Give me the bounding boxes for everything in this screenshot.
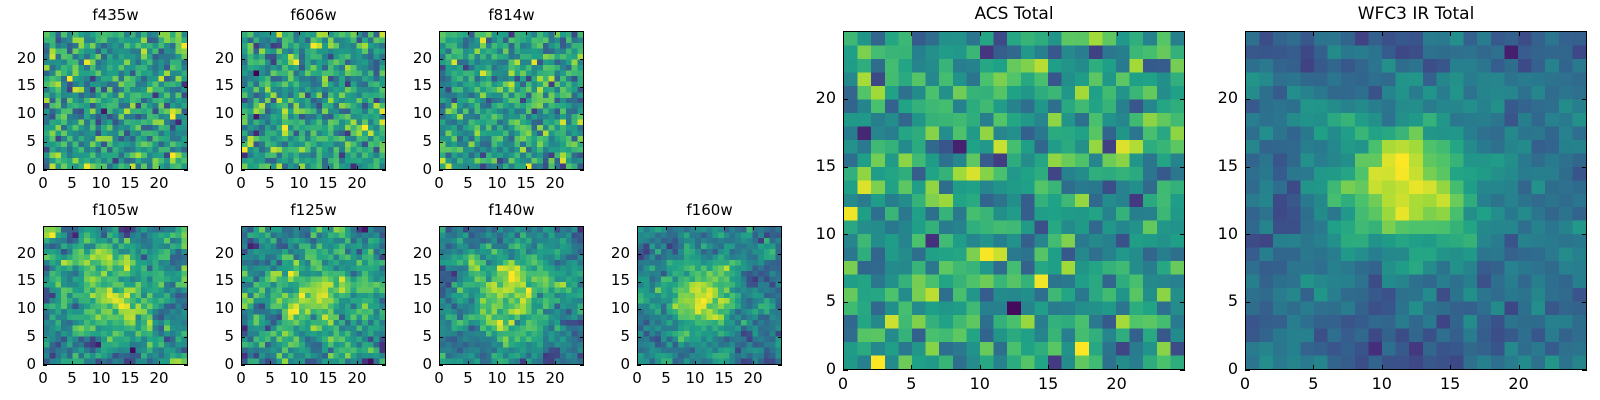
y-tick-label: 5 — [575, 329, 630, 344]
x-tick-mark — [695, 226, 696, 230]
x-tick-mark — [555, 226, 556, 230]
y-tick-mark — [580, 142, 584, 143]
x-tick-mark — [724, 361, 725, 365]
y-tick-label: 15 — [179, 78, 234, 93]
x-tick-mark — [753, 361, 754, 365]
y-tick-mark — [843, 302, 848, 303]
x-tick-mark — [1382, 365, 1383, 370]
plot-area-f814w[interactable] — [439, 31, 584, 170]
x-tick-mark — [497, 226, 498, 230]
x-tick-mark — [439, 226, 440, 230]
x-tick-mark — [468, 361, 469, 365]
y-tick-label: 5 — [0, 134, 36, 149]
y-tick-mark — [637, 254, 641, 255]
x-tick-mark — [101, 226, 102, 230]
y-tick-mark — [241, 254, 245, 255]
x-tick-mark — [468, 226, 469, 230]
y-tick-label: 15 — [377, 78, 432, 93]
y-tick-mark — [241, 114, 245, 115]
heatmap-image — [44, 227, 187, 364]
x-tick-mark — [555, 31, 556, 35]
x-tick-mark — [1048, 31, 1049, 36]
y-tick-label: 20 — [179, 246, 234, 261]
y-tick-label: 20 — [575, 246, 630, 261]
x-tick-label: 20 — [525, 176, 585, 191]
x-tick-mark — [159, 31, 160, 35]
y-tick-label: 20 — [377, 51, 432, 66]
y-tick-mark — [1582, 370, 1587, 371]
y-tick-label: 15 — [781, 158, 836, 174]
y-tick-label: 0 — [377, 162, 432, 177]
x-tick-mark — [159, 361, 160, 365]
heatmap-image — [1246, 32, 1586, 369]
y-tick-mark — [778, 337, 782, 338]
x-tick-mark — [101, 166, 102, 170]
x-tick-mark — [1519, 365, 1520, 370]
x-tick-mark — [1313, 365, 1314, 370]
x-tick-mark — [72, 226, 73, 230]
x-tick-mark — [911, 31, 912, 36]
x-tick-mark — [1048, 365, 1049, 370]
y-tick-label: 15 — [0, 273, 36, 288]
x-tick-mark — [980, 31, 981, 36]
y-tick-mark — [637, 282, 641, 283]
x-tick-label: 20 — [1489, 376, 1549, 392]
x-tick-mark — [497, 31, 498, 35]
y-tick-label: 20 — [0, 51, 36, 66]
x-tick-mark — [555, 166, 556, 170]
y-tick-label: 5 — [781, 293, 836, 309]
x-tick-mark — [328, 226, 329, 230]
plot-area-f160w[interactable] — [637, 226, 782, 365]
y-tick-label: 5 — [179, 134, 234, 149]
y-tick-mark — [43, 365, 47, 366]
y-tick-label: 0 — [781, 361, 836, 377]
heatmap-image — [440, 32, 583, 169]
x-tick-label: 20 — [129, 176, 189, 191]
y-tick-mark — [580, 87, 584, 88]
x-tick-mark — [130, 361, 131, 365]
y-tick-mark — [241, 337, 245, 338]
x-tick-label: 5 — [1283, 376, 1343, 392]
x-tick-label: 20 — [723, 371, 783, 386]
panel-title-f435w: f435w — [43, 8, 188, 23]
plot-area-f140w[interactable] — [439, 226, 584, 365]
y-tick-label: 5 — [0, 329, 36, 344]
y-tick-mark — [1245, 167, 1250, 168]
plot-area-wfc3_ir_total[interactable] — [1245, 31, 1587, 370]
panel-title-f125w: f125w — [241, 203, 386, 218]
x-tick-mark — [270, 31, 271, 35]
x-tick-mark — [159, 226, 160, 230]
panel-title-f606w: f606w — [241, 8, 386, 23]
x-tick-mark — [1245, 31, 1246, 36]
y-tick-label: 5 — [377, 134, 432, 149]
x-tick-mark — [43, 226, 44, 230]
y-tick-mark — [843, 370, 848, 371]
panel-title-f814w: f814w — [439, 8, 584, 23]
x-tick-mark — [555, 361, 556, 365]
y-tick-mark — [1245, 234, 1250, 235]
y-tick-mark — [439, 282, 443, 283]
y-tick-label: 0 — [377, 357, 432, 372]
y-tick-mark — [439, 114, 443, 115]
y-tick-mark — [241, 59, 245, 60]
y-tick-label: 10 — [0, 106, 36, 121]
y-tick-mark — [43, 309, 47, 310]
x-tick-label: 10 — [950, 376, 1010, 392]
y-tick-mark — [439, 337, 443, 338]
x-tick-label: 20 — [327, 371, 387, 386]
heatmap-image — [44, 32, 187, 169]
x-tick-mark — [43, 31, 44, 35]
x-tick-mark — [843, 31, 844, 36]
y-tick-mark — [43, 282, 47, 283]
x-tick-mark — [753, 226, 754, 230]
x-tick-mark — [468, 31, 469, 35]
y-tick-mark — [439, 170, 443, 171]
x-tick-mark — [1117, 31, 1118, 36]
y-tick-label: 0 — [575, 357, 630, 372]
y-tick-mark — [1582, 99, 1587, 100]
plot-area-f435w[interactable] — [43, 31, 188, 170]
y-tick-mark — [843, 234, 848, 235]
x-tick-mark — [666, 361, 667, 365]
x-tick-mark — [637, 226, 638, 230]
heatmap-image — [242, 227, 385, 364]
x-tick-label: 0 — [813, 376, 873, 392]
y-tick-label: 0 — [179, 357, 234, 372]
x-tick-mark — [1450, 31, 1451, 36]
y-tick-label: 5 — [179, 329, 234, 344]
y-tick-mark — [1582, 302, 1587, 303]
y-tick-mark — [439, 87, 443, 88]
y-tick-mark — [439, 365, 443, 366]
plot-area-f105w[interactable] — [43, 226, 188, 365]
panel-title-acs_total: ACS Total — [843, 6, 1185, 23]
y-tick-mark — [241, 170, 245, 171]
panel-title-f140w: f140w — [439, 203, 584, 218]
x-tick-mark — [101, 31, 102, 35]
x-tick-mark — [1117, 365, 1118, 370]
y-tick-label: 5 — [1183, 293, 1238, 309]
y-tick-mark — [580, 59, 584, 60]
x-tick-mark — [159, 166, 160, 170]
x-tick-mark — [72, 361, 73, 365]
x-tick-mark — [526, 361, 527, 365]
panel-title-wfc3_ir_total: WFC3 IR Total — [1245, 6, 1587, 23]
y-tick-mark — [1245, 370, 1250, 371]
y-tick-mark — [1582, 234, 1587, 235]
x-tick-label: 20 — [129, 371, 189, 386]
y-tick-mark — [1245, 99, 1250, 100]
y-tick-label: 20 — [781, 90, 836, 106]
panel-title-f160w: f160w — [637, 203, 782, 218]
x-tick-label: 15 — [1018, 376, 1078, 392]
x-tick-label: 15 — [1420, 376, 1480, 392]
x-tick-mark — [328, 31, 329, 35]
y-tick-label: 10 — [1183, 226, 1238, 242]
x-tick-label: 20 — [1087, 376, 1147, 392]
plot-area-f606w[interactable] — [241, 31, 386, 170]
heatmap-image — [242, 32, 385, 169]
x-tick-mark — [526, 166, 527, 170]
y-tick-mark — [637, 337, 641, 338]
y-tick-mark — [580, 170, 584, 171]
y-tick-label: 15 — [1183, 158, 1238, 174]
x-tick-label: 5 — [881, 376, 941, 392]
y-tick-mark — [778, 254, 782, 255]
x-tick-mark — [130, 31, 131, 35]
x-tick-mark — [328, 166, 329, 170]
y-tick-label: 20 — [377, 246, 432, 261]
y-tick-mark — [43, 59, 47, 60]
heatmap-image — [638, 227, 781, 364]
x-tick-mark — [357, 166, 358, 170]
y-tick-mark — [637, 365, 641, 366]
y-tick-label: 20 — [179, 51, 234, 66]
x-tick-mark — [130, 226, 131, 230]
x-tick-mark — [270, 166, 271, 170]
x-tick-mark — [241, 226, 242, 230]
y-tick-label: 20 — [1183, 90, 1238, 106]
y-tick-mark — [843, 167, 848, 168]
x-tick-mark — [72, 166, 73, 170]
y-tick-mark — [241, 142, 245, 143]
x-tick-mark — [468, 166, 469, 170]
y-tick-label: 20 — [0, 246, 36, 261]
plot-area-acs_total[interactable] — [843, 31, 1185, 370]
y-tick-label: 15 — [377, 273, 432, 288]
x-tick-mark — [1519, 31, 1520, 36]
y-tick-mark — [43, 114, 47, 115]
x-tick-mark — [270, 361, 271, 365]
x-tick-mark — [357, 226, 358, 230]
x-tick-mark — [72, 31, 73, 35]
y-tick-label: 10 — [781, 226, 836, 242]
y-tick-label: 10 — [179, 106, 234, 121]
x-tick-label: 10 — [1352, 376, 1412, 392]
x-tick-mark — [497, 361, 498, 365]
panel-title-f105w: f105w — [43, 203, 188, 218]
x-tick-label: 20 — [327, 176, 387, 191]
y-tick-mark — [843, 99, 848, 100]
y-tick-label: 0 — [179, 162, 234, 177]
x-tick-label: 20 — [525, 371, 585, 386]
y-tick-mark — [43, 142, 47, 143]
y-tick-mark — [439, 254, 443, 255]
y-tick-mark — [43, 254, 47, 255]
x-tick-mark — [497, 166, 498, 170]
x-tick-mark — [101, 361, 102, 365]
y-tick-label: 15 — [179, 273, 234, 288]
y-tick-mark — [1582, 167, 1587, 168]
y-tick-mark — [241, 282, 245, 283]
x-tick-mark — [357, 361, 358, 365]
y-tick-label: 0 — [1183, 361, 1238, 377]
y-tick-label: 10 — [377, 106, 432, 121]
x-tick-label: 0 — [1215, 376, 1275, 392]
x-tick-mark — [1313, 31, 1314, 36]
y-tick-label: 15 — [0, 78, 36, 93]
x-tick-mark — [299, 166, 300, 170]
y-tick-mark — [1245, 302, 1250, 303]
heatmap-image — [844, 32, 1184, 369]
x-tick-mark — [1450, 365, 1451, 370]
x-tick-mark — [299, 31, 300, 35]
y-tick-mark — [241, 87, 245, 88]
y-tick-label: 10 — [377, 301, 432, 316]
y-tick-mark — [241, 309, 245, 310]
y-tick-mark — [43, 87, 47, 88]
y-tick-label: 10 — [0, 301, 36, 316]
x-tick-mark — [299, 226, 300, 230]
y-tick-mark — [439, 309, 443, 310]
x-tick-mark — [270, 226, 271, 230]
y-tick-label: 0 — [0, 357, 36, 372]
y-tick-label: 10 — [575, 301, 630, 316]
x-tick-mark — [526, 31, 527, 35]
y-tick-label: 5 — [377, 329, 432, 344]
x-tick-mark — [980, 365, 981, 370]
x-tick-mark — [724, 226, 725, 230]
x-tick-mark — [666, 226, 667, 230]
y-tick-mark — [439, 142, 443, 143]
x-tick-mark — [328, 361, 329, 365]
x-tick-mark — [911, 365, 912, 370]
y-tick-mark — [778, 282, 782, 283]
y-tick-label: 10 — [179, 301, 234, 316]
heatmap-image — [440, 227, 583, 364]
plot-area-f125w[interactable] — [241, 226, 386, 365]
x-tick-mark — [130, 166, 131, 170]
y-tick-mark — [778, 309, 782, 310]
x-tick-mark — [241, 31, 242, 35]
y-tick-mark — [43, 337, 47, 338]
y-tick-label: 0 — [0, 162, 36, 177]
x-tick-mark — [695, 361, 696, 365]
y-tick-mark — [637, 309, 641, 310]
x-tick-mark — [357, 31, 358, 35]
x-tick-mark — [299, 361, 300, 365]
x-tick-mark — [439, 31, 440, 35]
y-tick-mark — [241, 365, 245, 366]
y-tick-label: 15 — [575, 273, 630, 288]
y-tick-mark — [439, 59, 443, 60]
x-tick-mark — [526, 226, 527, 230]
x-tick-mark — [1382, 31, 1383, 36]
y-tick-mark — [43, 170, 47, 171]
y-tick-mark — [580, 114, 584, 115]
